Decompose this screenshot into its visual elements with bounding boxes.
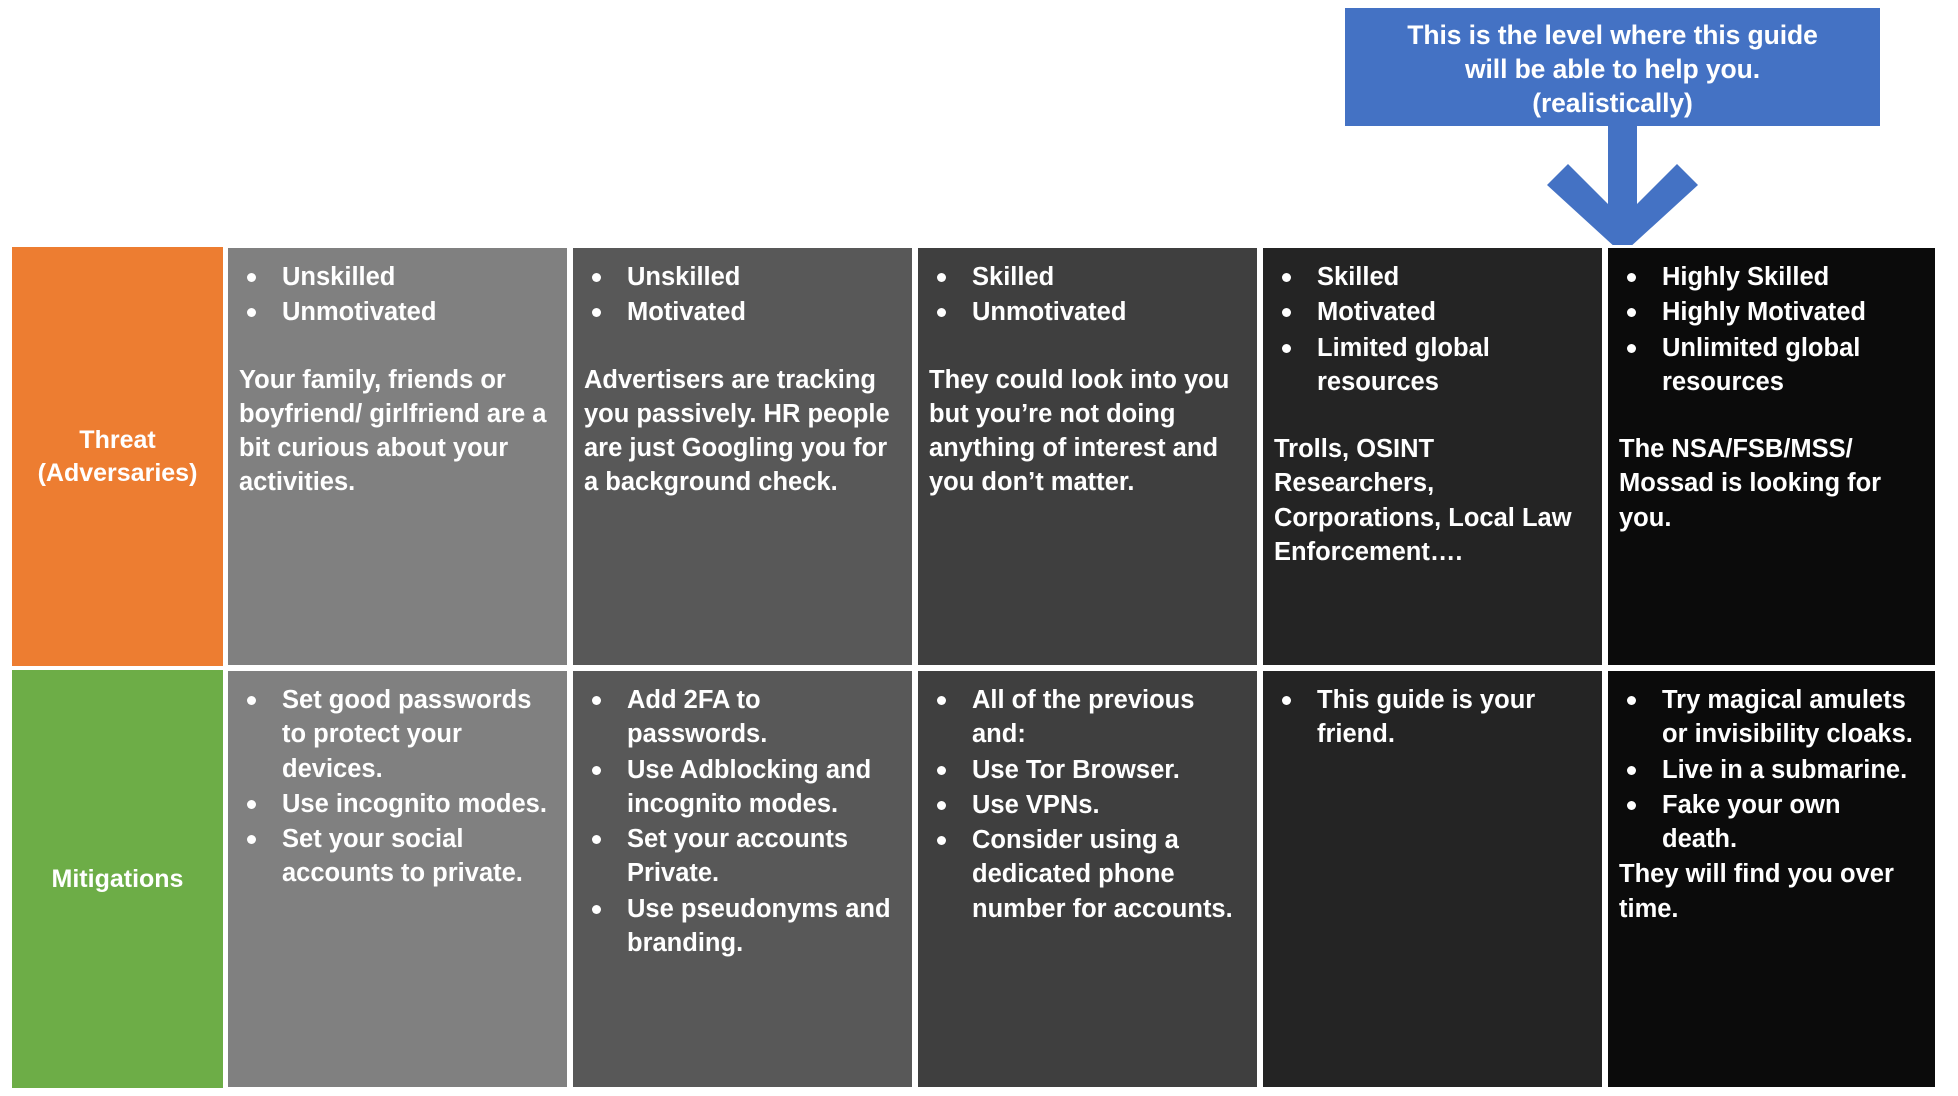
mitigations-cell-level-5: Try magical amulets or invisibility cloa…: [1605, 668, 1938, 1090]
list-item: Fake your own death.: [1618, 788, 1921, 857]
mitigation-bullet-list-4: This guide is your friend.: [1273, 683, 1588, 752]
down-arrow-icon: [1530, 126, 1715, 254]
threat-paragraph-1: Your family, friends or boyfriend/ girlf…: [238, 363, 553, 500]
mitigations-cell-level-1: Set good passwords to protect your devic…: [225, 668, 570, 1090]
list-item: Limited global resources: [1273, 331, 1588, 400]
list-item: Set your accounts Private.: [583, 822, 898, 891]
row-label-threat-line-2: (Adversaries): [38, 457, 198, 490]
threat-bullet-list-5: Highly Skilled Highly Motivated Unlimite…: [1618, 260, 1921, 399]
list-item: Use Tor Browser.: [928, 753, 1243, 787]
callout-line-3: (realistically): [1359, 86, 1866, 120]
list-item: Highly Motivated: [1618, 295, 1921, 329]
threat-paragraph-4: Trolls, OSINT Researchers, Corporations,…: [1273, 432, 1588, 569]
threat-cell-level-1: Unskilled Unmotivated Your family, frien…: [225, 245, 570, 668]
threat-bullet-list-2: Unskilled Motivated: [583, 260, 898, 330]
list-item: Use VPNs.: [928, 788, 1243, 822]
list-item: Unskilled: [583, 260, 898, 294]
callout-box: This is the level where this guide will …: [1345, 8, 1880, 126]
list-item: Unlimited global resources: [1618, 331, 1921, 400]
list-item: Unmotivated: [238, 295, 553, 329]
list-item: Skilled: [1273, 260, 1588, 294]
list-item: Use incognito modes.: [238, 787, 553, 821]
list-item: Set your social accounts to private.: [238, 822, 553, 891]
threat-cell-level-3: Skilled Unmotivated They could look into…: [915, 245, 1260, 668]
mitigation-bullet-list-5: Try magical amulets or invisibility cloa…: [1618, 683, 1921, 856]
row-label-threat: Threat (Adversaries): [10, 245, 225, 668]
threat-paragraph-3: They could look into you but you’re not …: [928, 363, 1243, 500]
list-item: Motivated: [583, 295, 898, 329]
threat-cell-level-4: Skilled Motivated Limited global resourc…: [1260, 245, 1605, 668]
list-item: Unmotivated: [928, 295, 1243, 329]
threat-cell-level-5: Highly Skilled Highly Motivated Unlimite…: [1605, 245, 1938, 668]
mitigations-cell-level-4: This guide is your friend.: [1260, 668, 1605, 1090]
mitigation-bullet-list-3: All of the previous and: Use Tor Browser…: [928, 683, 1243, 926]
list-item: Skilled: [928, 260, 1243, 294]
list-item: This guide is your friend.: [1273, 683, 1588, 752]
threat-paragraph-5: The NSA/FSB/MSS/ Mossad is looking for y…: [1618, 432, 1921, 535]
mitigation-bullet-list-1: Set good passwords to protect your devic…: [238, 683, 553, 891]
threat-paragraph-2: Advertisers are tracking you passively. …: [583, 363, 898, 500]
row-label-mitigations-line-1: Mitigations: [52, 863, 184, 896]
mitigation-paragraph-5: They will find you over time.: [1618, 857, 1921, 926]
list-item: Use Adblocking and incognito modes.: [583, 753, 898, 822]
list-item: Use pseudonyms and branding.: [583, 892, 898, 961]
threat-cell-level-2: Unskilled Motivated Advertisers are trac…: [570, 245, 915, 668]
list-item: All of the previous and:: [928, 683, 1243, 752]
list-item: Set good passwords to protect your devic…: [238, 683, 553, 786]
callout-line-1: This is the level where this guide: [1359, 18, 1866, 52]
threat-bullet-list-1: Unskilled Unmotivated: [238, 260, 553, 330]
list-item: Add 2FA to passwords.: [583, 683, 898, 752]
mitigation-bullet-list-2: Add 2FA to passwords. Use Adblocking and…: [583, 683, 898, 960]
row-label-threat-line-1: Threat: [38, 424, 198, 457]
list-item: Try magical amulets or invisibility cloa…: [1618, 683, 1921, 752]
threat-bullet-list-4: Skilled Motivated Limited global resourc…: [1273, 260, 1588, 399]
callout-line-2: will be able to help you.: [1359, 52, 1866, 86]
list-item: Live in a submarine.: [1618, 753, 1921, 787]
mitigations-cell-level-3: All of the previous and: Use Tor Browser…: [915, 668, 1260, 1090]
list-item: Unskilled: [238, 260, 553, 294]
threat-model-matrix: Threat (Adversaries) Unskilled Unmotivat…: [10, 245, 1948, 1090]
mitigations-cell-level-2: Add 2FA to passwords. Use Adblocking and…: [570, 668, 915, 1090]
list-item: Motivated: [1273, 295, 1588, 329]
list-item: Consider using a dedicated phone number …: [928, 823, 1243, 926]
list-item: Highly Skilled: [1618, 260, 1921, 294]
threat-bullet-list-3: Skilled Unmotivated: [928, 260, 1243, 330]
row-label-mitigations: Mitigations: [10, 668, 225, 1090]
callout-group: This is the level where this guide will …: [1345, 8, 1880, 248]
